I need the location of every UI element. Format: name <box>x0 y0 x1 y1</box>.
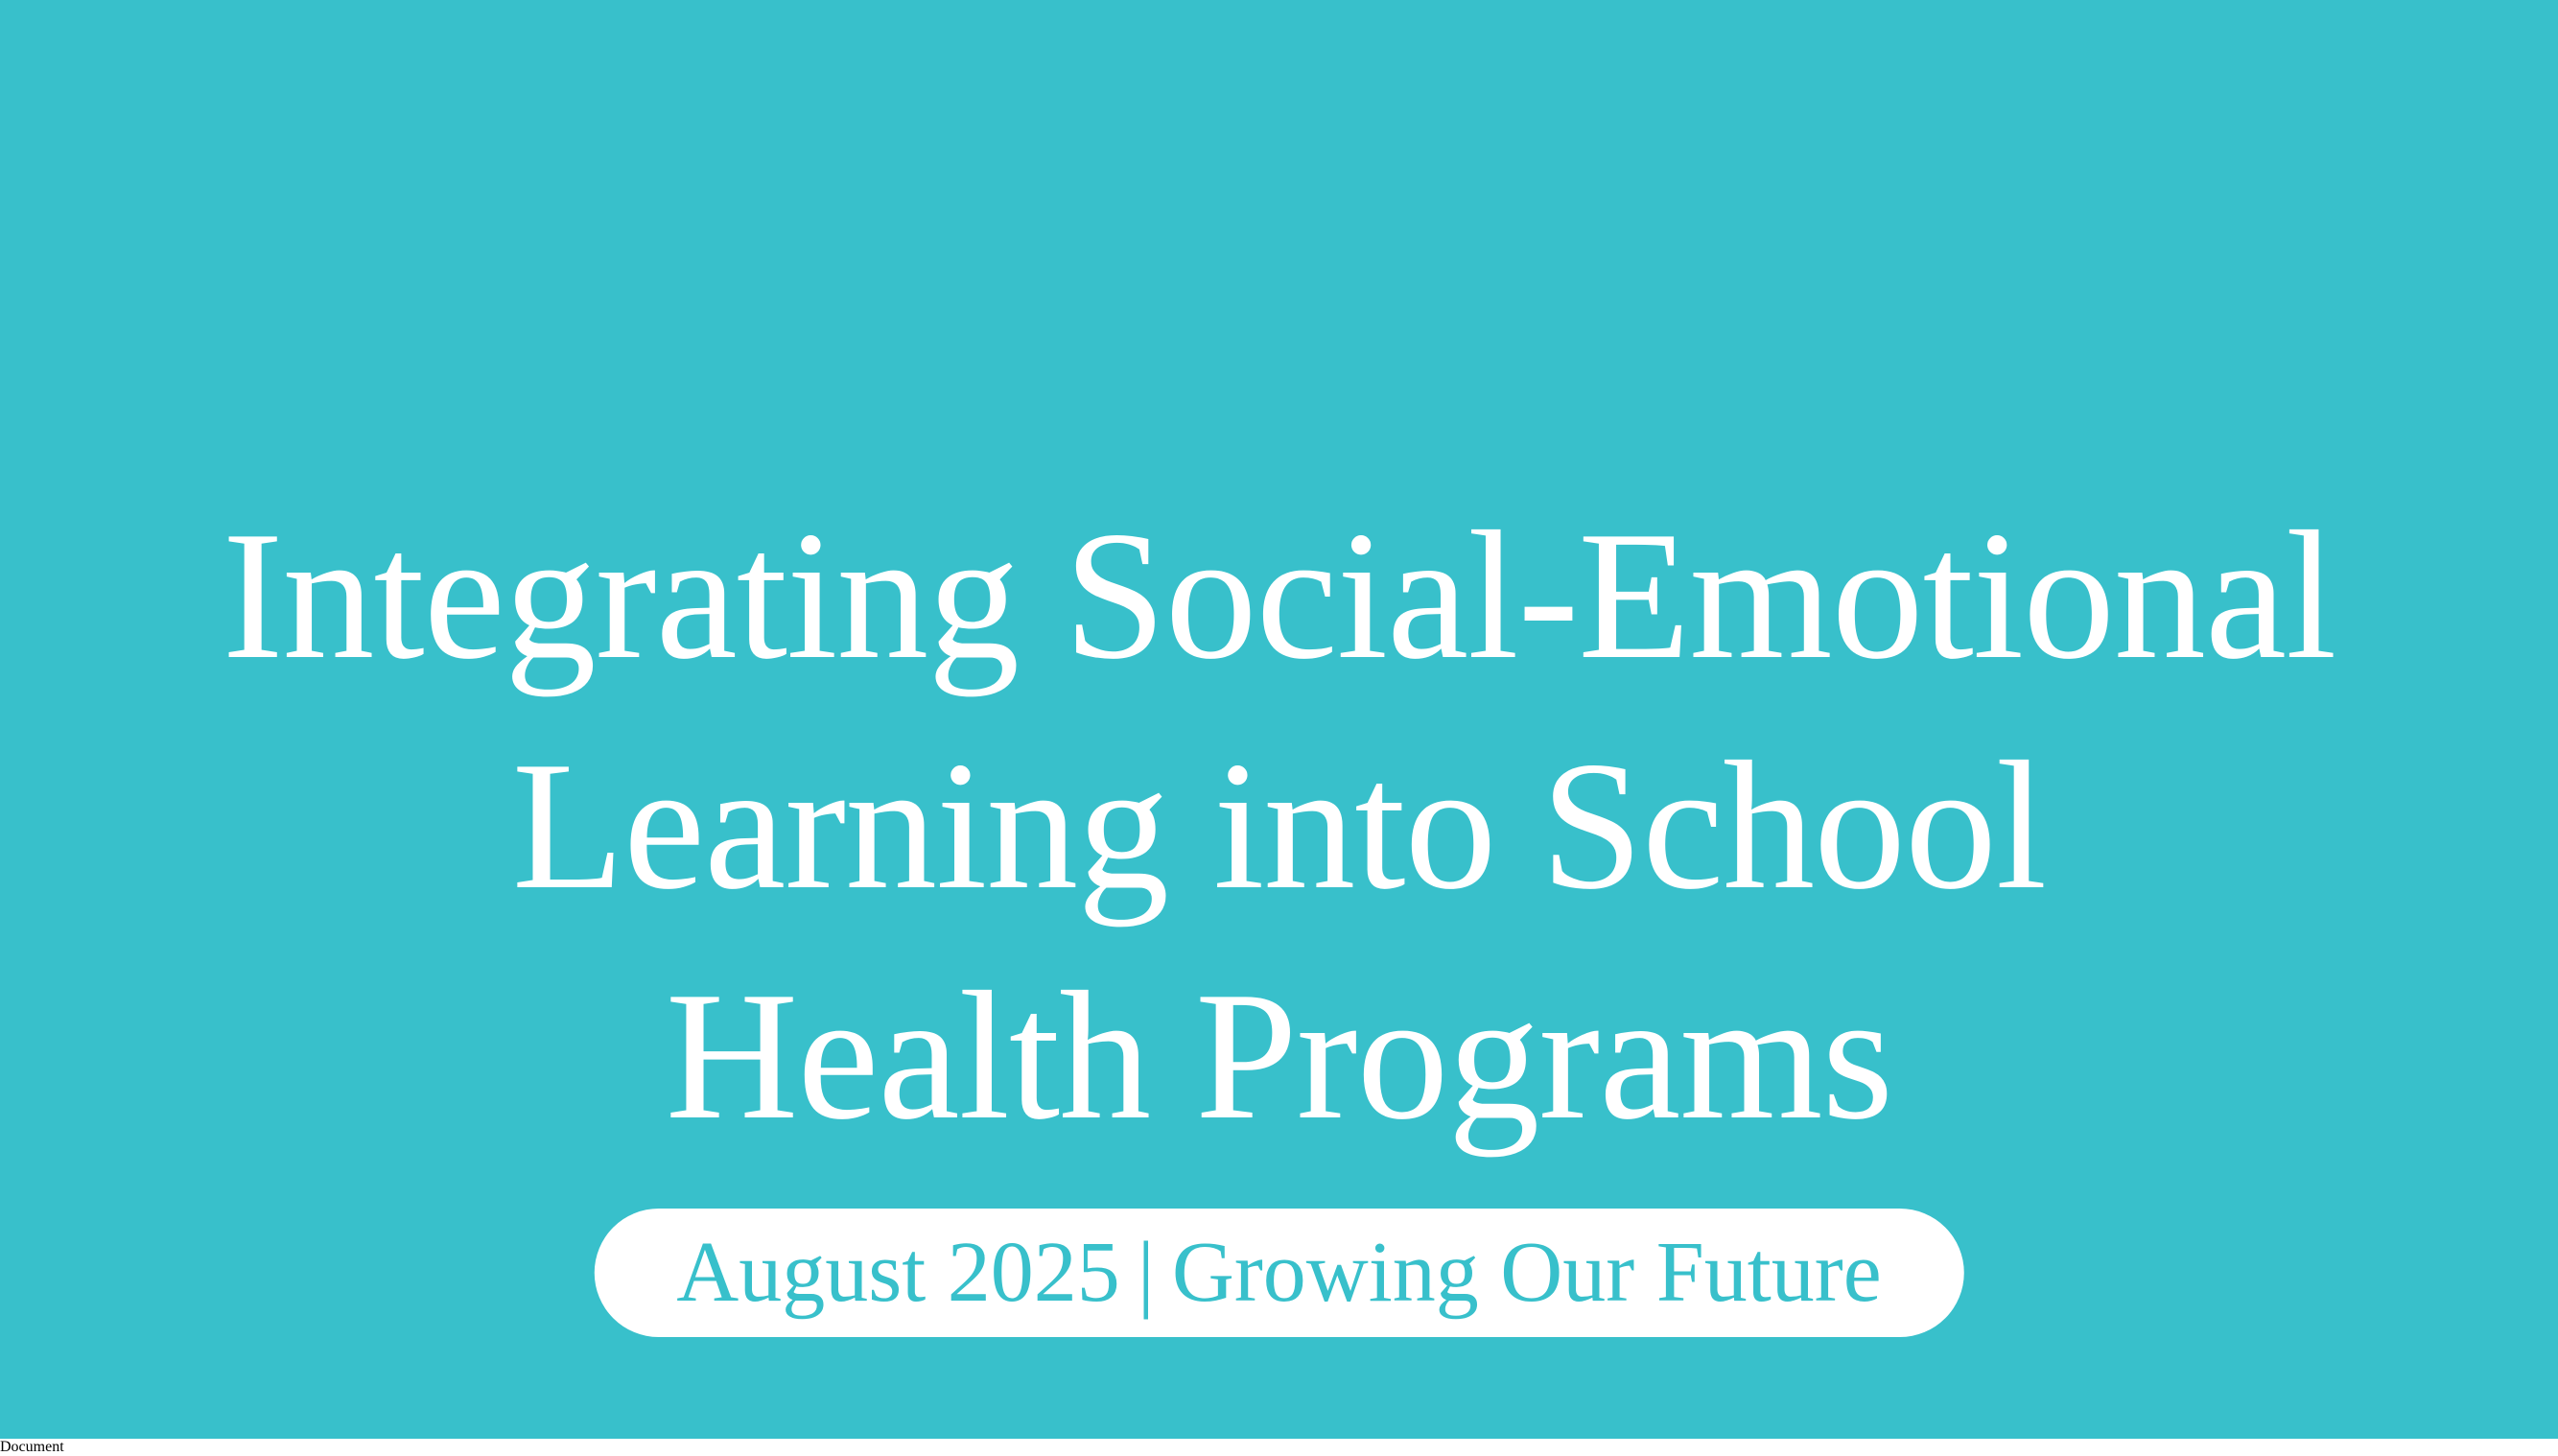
badge-separator: | <box>1120 1227 1172 1319</box>
badge-date: August 2025 <box>676 1227 1120 1319</box>
page-title-line-1: Integrating Social-Emotional <box>0 481 2558 711</box>
page-title-line-2: Learning into School <box>0 711 2558 941</box>
status-badge-label: August 2025 | Growing Our Future <box>676 1227 1881 1319</box>
title-slide: Integrating Social-Emotional Learning in… <box>0 0 2558 1439</box>
page-title-line-3: Health Programs <box>0 941 2558 1171</box>
badge-tagline: Growing Our Future <box>1172 1227 1882 1319</box>
page-title: Integrating Social-Emotional Learning in… <box>0 481 2558 1171</box>
status-badge: August 2025 | Growing Our Future <box>594 1209 1963 1337</box>
